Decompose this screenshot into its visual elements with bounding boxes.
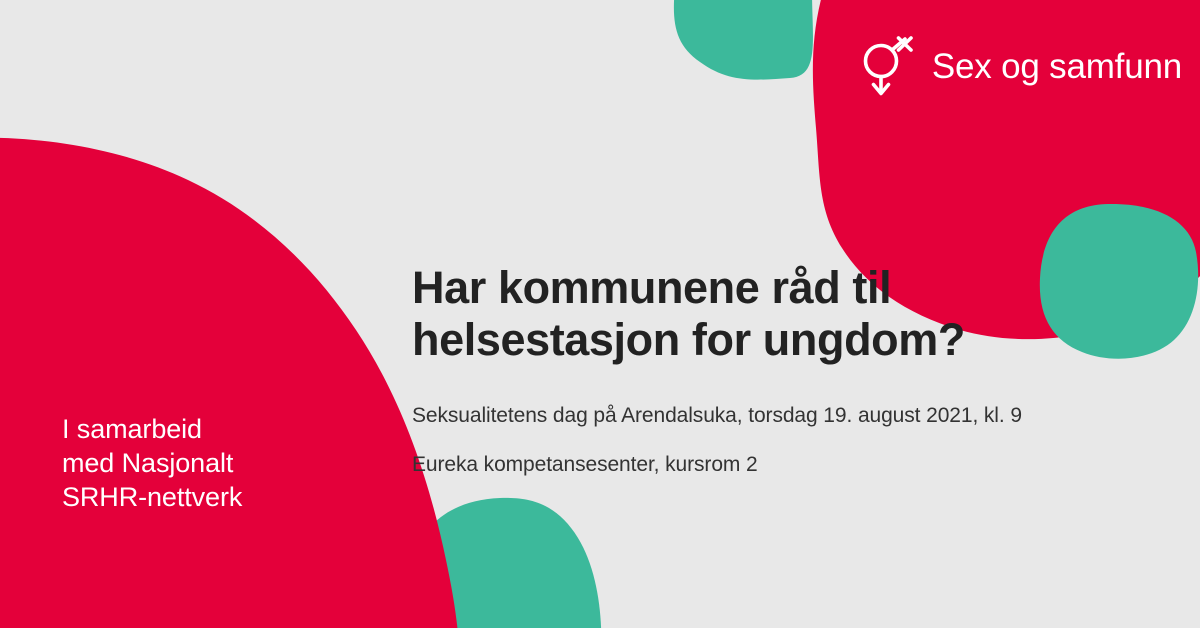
partner-note-line-1: I samarbeid — [62, 412, 362, 446]
brand-logo: Sex og samfunn — [856, 34, 1182, 98]
partner-note-line-2: med Nasjonalt — [62, 446, 362, 480]
page-title: Har kommunene råd til helsestasjon for u… — [412, 262, 1112, 366]
main-text-block: Har kommunene råd til helsestasjon for u… — [412, 262, 1112, 478]
partner-note-line-3: SRHR-nettverk — [62, 480, 362, 514]
brand-name: Sex og samfunn — [932, 49, 1182, 84]
partner-note: I samarbeid med Nasjonalt SRHR-nettverk — [62, 412, 362, 514]
headline-line-2: helsestasjon for ungdom? — [412, 314, 1112, 366]
event-location: Eureka kompetansesenter, kursrom 2 — [412, 451, 1112, 478]
gender-symbol-icon — [856, 34, 918, 98]
event-banner: Sex og samfunn Har kommunene råd til hel… — [0, 0, 1200, 628]
headline-line-1: Har kommunene råd til — [412, 262, 1112, 314]
content-layer: Sex og samfunn Har kommunene råd til hel… — [0, 0, 1200, 628]
event-subtitle: Seksualitetens dag på Arendalsuka, torsd… — [412, 402, 1112, 429]
